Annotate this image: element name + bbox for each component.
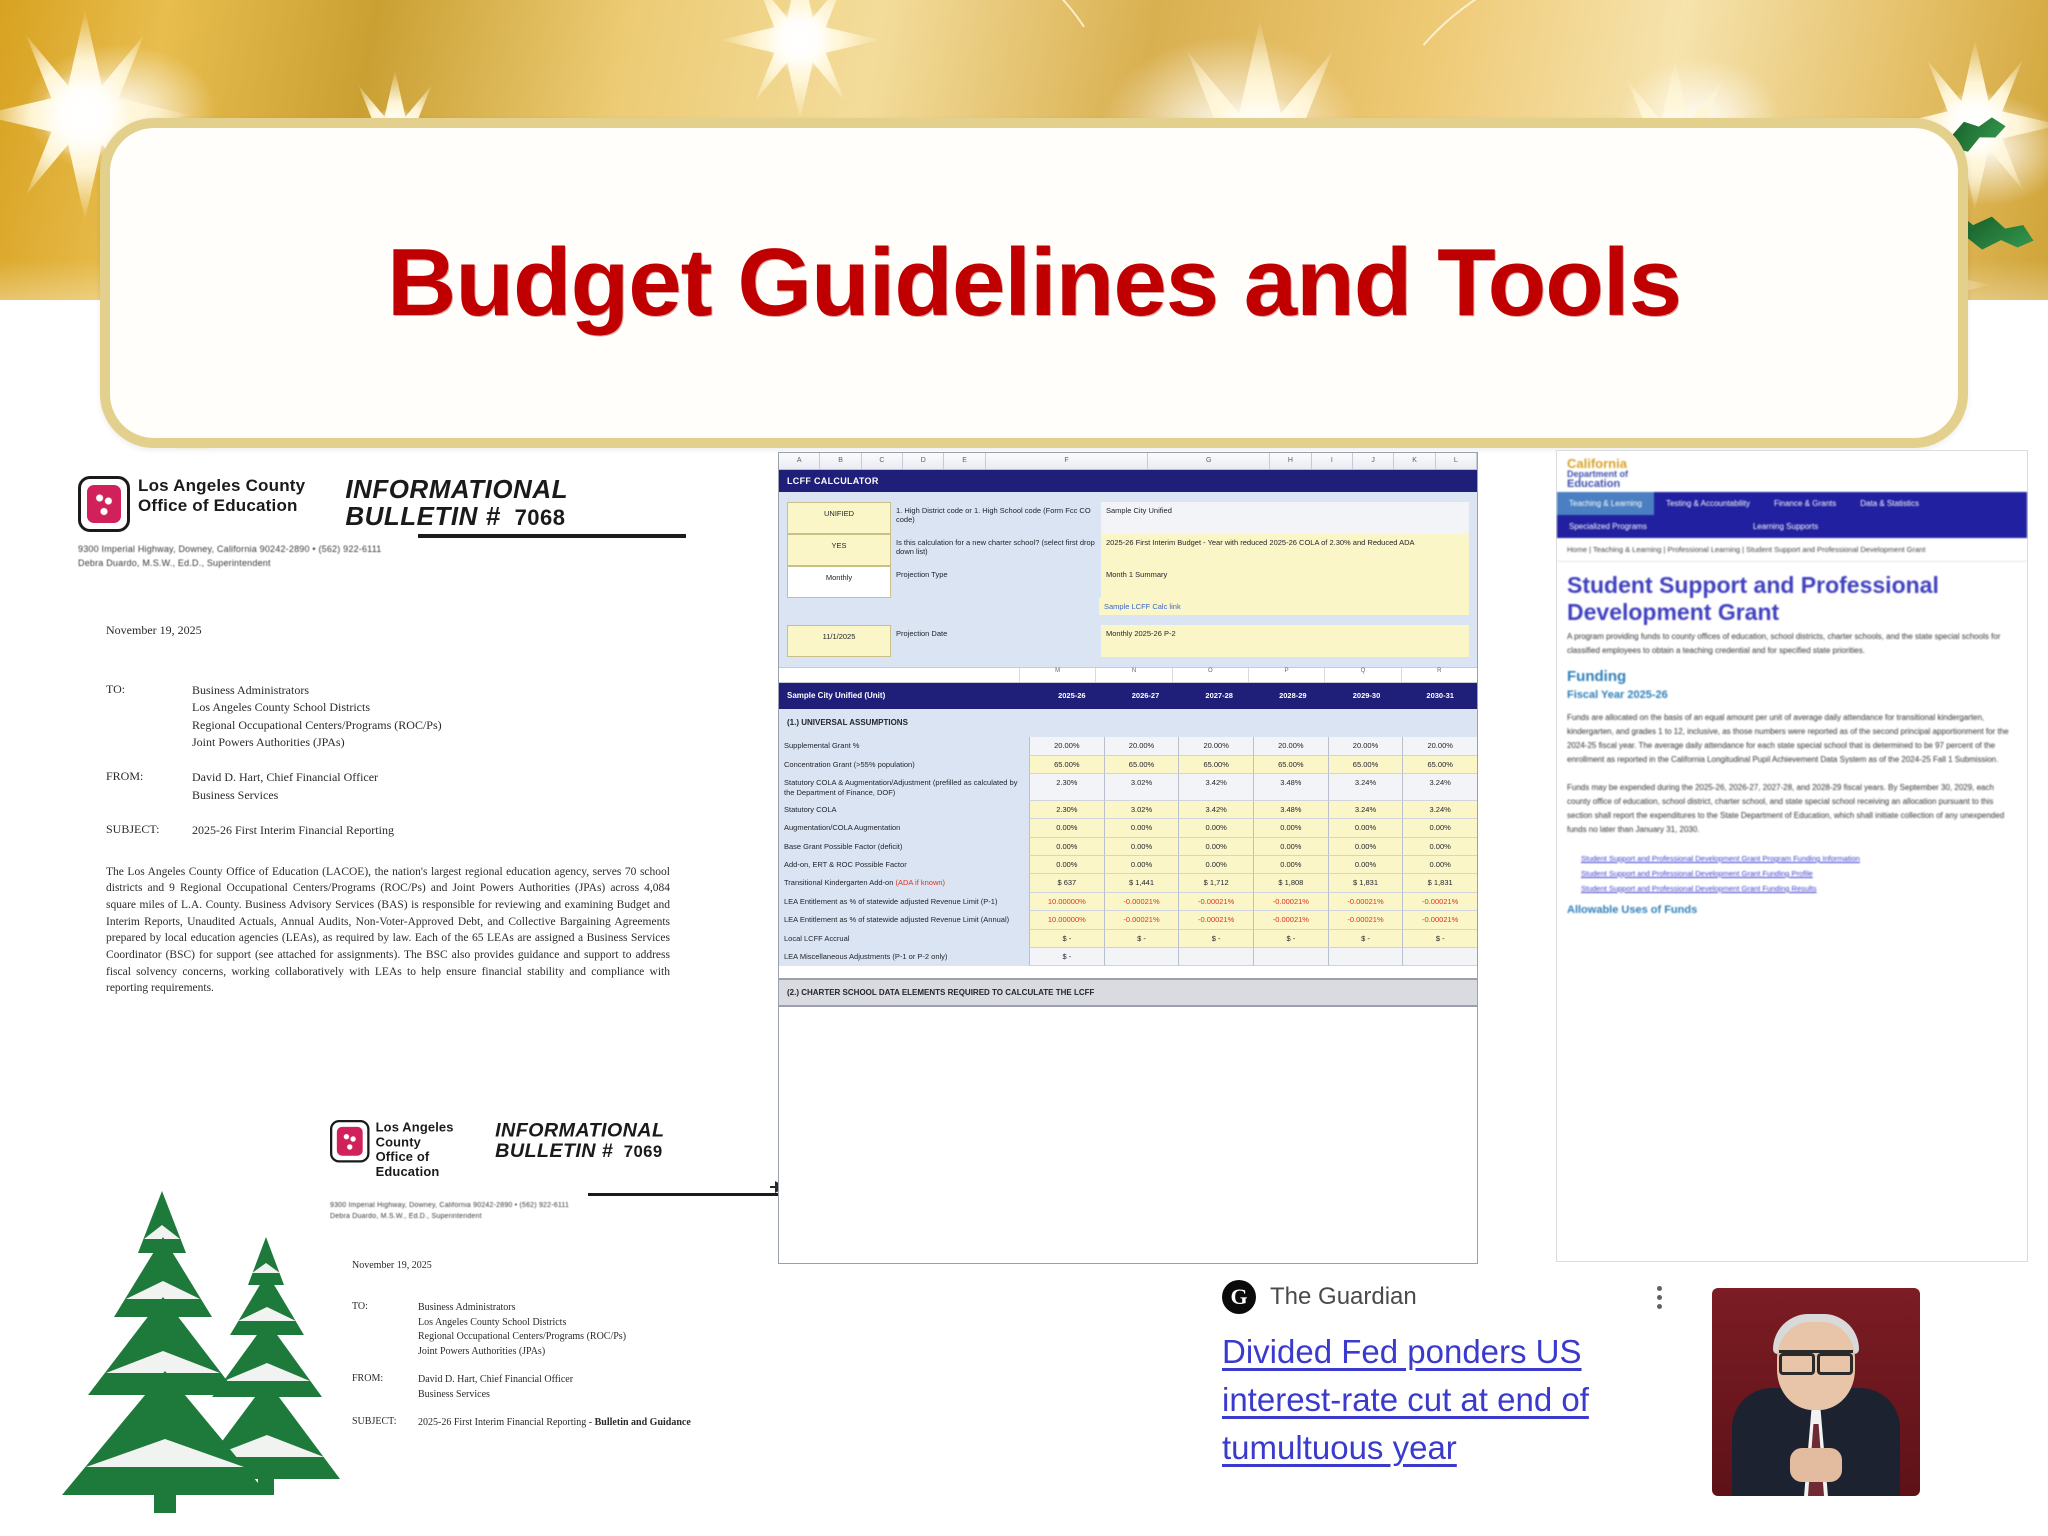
lcff-calculator-spreadsheet[interactable]: A B C D E F G H I J K L LCFF CALCULATOR … xyxy=(778,452,1478,1264)
column-header[interactable]: G xyxy=(1148,453,1270,469)
table-cell[interactable]: 0.00% xyxy=(1402,838,1477,856)
table-cell[interactable]: 20.00% xyxy=(1253,737,1328,755)
row-label-note: (ADA if known) xyxy=(893,878,945,887)
subject-label: SUBJECT: xyxy=(106,822,192,839)
table-cell[interactable]: 3.24% xyxy=(1328,801,1403,819)
table-cell[interactable]: 0.00% xyxy=(1328,838,1403,856)
to-label: TO: xyxy=(106,682,192,752)
spreadsheet-data-rows[interactable]: Supplemental Grant %20.00%20.00%20.00%20… xyxy=(779,737,1477,966)
spreadsheet-table-header: Sample City Unified (Unit) 2025-26 2026-… xyxy=(779,683,1477,709)
to-line: Los Angeles County School Districts xyxy=(418,1316,626,1331)
subject-label: SUBJECT: xyxy=(352,1416,418,1431)
pine-tree-large xyxy=(60,1185,270,1536)
bulletin-subject-block: SUBJECT: 2025-26 First Interim Financial… xyxy=(106,822,698,839)
column-header[interactable]: D xyxy=(903,453,944,469)
slide-title-card: Budget Guidelines and Tools xyxy=(100,118,1968,448)
table-row[interactable]: Transitional Kindergarten Add-on (ADA if… xyxy=(779,874,1477,892)
table-cell[interactable] xyxy=(1104,948,1179,966)
row-label: Transitional Kindergarten Add-on (ADA if… xyxy=(779,874,1029,892)
lacoe-address: 9300 Imperial Highway, Downey, Californi… xyxy=(78,542,698,556)
year-column-header: 2025-26 xyxy=(1035,683,1109,709)
from-line: David D. Hart, Chief Financial Officer xyxy=(192,769,378,786)
table-cell[interactable]: 0.00% xyxy=(1178,856,1253,874)
from-sender: David D. Hart, Chief Financial Officer B… xyxy=(192,769,378,804)
table-cell[interactable]: 0.00% xyxy=(1029,856,1104,874)
table-cell[interactable]: 20.00% xyxy=(1029,737,1104,755)
nav-item-specialized-programs[interactable]: Specialized Programs xyxy=(1557,515,1659,538)
table-cell[interactable]: 20.00% xyxy=(1328,737,1403,755)
funding-heading: Funding xyxy=(1557,658,2027,685)
year-column-header: 2029-30 xyxy=(1330,683,1404,709)
table-cell[interactable]: 3.42% xyxy=(1178,801,1253,819)
spreadsheet-column-headers[interactable]: A B C D E F G H I J K L xyxy=(779,453,1477,470)
table-cell[interactable]: -0.00021% xyxy=(1328,893,1403,911)
cde-logo[interactable]: California Department of Education xyxy=(1557,451,2027,492)
to-line: Regional Occupational Centers/Programs (… xyxy=(418,1330,626,1345)
column-header[interactable]: H xyxy=(1270,453,1311,469)
table-row[interactable]: LEA Miscellaneous Adjustments (P-1 or P-… xyxy=(779,948,1477,966)
spreadsheet-input-panel[interactable]: UNIFIED 1. High District code or 1. High… xyxy=(779,492,1477,667)
table-cell[interactable]: -0.00021% xyxy=(1104,911,1179,929)
table-cell[interactable]: -0.00021% xyxy=(1402,893,1477,911)
from-label: FROM: xyxy=(106,769,192,804)
table-row[interactable]: LEA Entitlement as % of statewide adjust… xyxy=(779,893,1477,911)
form-key[interactable]: 11/1/2025 xyxy=(787,625,891,657)
subject-value: 2025-26 First Interim Financial Reportin… xyxy=(192,822,394,839)
to-line: Business Administrators xyxy=(192,682,442,699)
subject-value: 2025-26 First Interim Financial Reportin… xyxy=(418,1416,691,1431)
table-cell[interactable]: $ - xyxy=(1253,930,1328,948)
kebab-menu-icon[interactable] xyxy=(1657,1286,1662,1309)
form-label: Is this calculation for a new charter sc… xyxy=(891,534,1101,566)
nav-item-finance-grants[interactable]: Finance & Grants xyxy=(1762,492,1848,515)
column-header[interactable]: L xyxy=(1436,453,1477,469)
from-line: Business Services xyxy=(418,1388,573,1403)
snowy-pine-trees-icon xyxy=(60,1185,350,1536)
table-cell[interactable]: -0.00021% xyxy=(1178,911,1253,929)
table-cell[interactable]: 2.30% xyxy=(1029,801,1104,819)
table-cell[interactable]: $ - xyxy=(1328,930,1403,948)
logo-line-2: Department of xyxy=(1567,470,2017,479)
lacoe-org-name: Los Angeles County Office of Education xyxy=(376,1120,470,1180)
row-label: Statutory COLA xyxy=(779,801,1029,819)
table-cell[interactable]: 3.48% xyxy=(1253,801,1328,819)
row-label: Concentration Grant (>55% population) xyxy=(779,756,1029,774)
table-cell[interactable]: 0.00% xyxy=(1253,838,1328,856)
form-label: 1. High District code or 1. High School … xyxy=(891,502,1101,534)
form-value[interactable]: Sample City Unified xyxy=(1101,502,1469,534)
lacoe-superintendent: Debra Duardo, M.S.W., Ed.D., Superintend… xyxy=(78,556,698,570)
table-cell[interactable]: 0.00% xyxy=(1104,819,1179,837)
column-header[interactable]: A xyxy=(779,453,820,469)
form-row[interactable]: YES Is this calculation for a new charte… xyxy=(787,534,1469,566)
table-cell[interactable]: $ 1,831 xyxy=(1328,874,1403,892)
table-cell[interactable]: -0.00021% xyxy=(1178,893,1253,911)
related-link[interactable]: Student Support and Professional Develop… xyxy=(1557,851,2027,866)
form-value[interactable]: Monthly 2025-26 P-2 xyxy=(1101,625,1469,657)
row-label: Local LCFF Accrual xyxy=(779,930,1029,948)
table-cell[interactable] xyxy=(1402,948,1477,966)
bulletin-to-block: TO: Business Administrators Los Angeles … xyxy=(106,682,698,752)
table-cell[interactable]: $ 1,808 xyxy=(1253,874,1328,892)
letterhead-divider xyxy=(418,534,686,538)
table-cell[interactable]: 65.00% xyxy=(1328,756,1403,774)
cde-webpage-screenshot[interactable]: California Department of Education Teach… xyxy=(1556,450,2028,1262)
year-column-header: 2028-29 xyxy=(1256,683,1330,709)
bulletin-from-block: FROM: David D. Hart, Chief Financial Off… xyxy=(106,769,698,804)
bulletin-to-block: TO: Business Administrators Los Angeles … xyxy=(352,1301,770,1359)
table-row[interactable]: Statutory COLA2.30%3.02%3.42%3.48%3.24%3… xyxy=(779,801,1477,819)
table-cell[interactable]: 10.00000% xyxy=(1029,893,1104,911)
row-label: Add-on, ERT & ROC Possible Factor xyxy=(779,856,1029,874)
table-cell[interactable]: 3.48% xyxy=(1253,774,1328,801)
related-link[interactable]: Student Support and Professional Develop… xyxy=(1557,881,2027,896)
nav-item-data-statistics[interactable]: Data & Statistics xyxy=(1848,492,1931,515)
cde-logo-text: California Department of Education xyxy=(1567,457,2017,490)
bulletin-label-line1: INFORMATIONAL xyxy=(495,1120,664,1141)
row-label: Augmentation/COLA Augmentation xyxy=(779,819,1029,837)
from-line: David D. Hart, Chief Financial Officer xyxy=(418,1373,573,1388)
column-header[interactable]: K xyxy=(1394,453,1435,469)
table-cell[interactable]: 20.00% xyxy=(1402,737,1477,755)
table-cell[interactable]: 65.00% xyxy=(1253,756,1328,774)
bulletin-7069-document[interactable]: Los Angeles County Office of Education I… xyxy=(330,1120,770,1536)
table-cell[interactable]: 3.02% xyxy=(1104,801,1179,819)
table-cell[interactable]: $ 637 xyxy=(1029,874,1104,892)
lacoe-logo-icon xyxy=(330,1120,370,1163)
table-cell[interactable]: 0.00% xyxy=(1029,838,1104,856)
table-cell[interactable]: 0.00% xyxy=(1253,856,1328,874)
bulletin-from-block: FROM: David D. Hart, Chief Financial Off… xyxy=(352,1373,770,1402)
table-row[interactable]: Statutory COLA & Augmentation/Adjustment… xyxy=(779,774,1477,801)
table-cell[interactable]: $ - xyxy=(1029,930,1104,948)
bulletin-label-line2: BULLETIN # xyxy=(495,1141,613,1162)
page-intro-text: A program providing funds to county offi… xyxy=(1557,630,2027,658)
row-label: LEA Entitlement as % of statewide adjust… xyxy=(779,911,1029,929)
guardian-news-card[interactable]: The Guardian Divided Fed ponders US inte… xyxy=(1222,1280,1662,1500)
table-cell[interactable]: 0.00% xyxy=(1178,819,1253,837)
table-cell[interactable]: $ 1,441 xyxy=(1104,874,1179,892)
org-line-1: Los Angeles County xyxy=(138,476,305,496)
bulletin-7068-document[interactable]: Los Angeles County Office of Education I… xyxy=(78,470,698,1070)
table-cell[interactable]: 65.00% xyxy=(1178,756,1253,774)
to-line: Los Angeles County School Districts xyxy=(192,699,442,716)
column-header[interactable]: E xyxy=(944,453,985,469)
to-recipients: Business Administrators Los Angeles Coun… xyxy=(418,1301,626,1359)
table-cell[interactable]: 0.00% xyxy=(1178,838,1253,856)
row-label: Base Grant Possible Factor (deficit) xyxy=(779,838,1029,856)
table-row[interactable]: Supplemental Grant %20.00%20.00%20.00%20… xyxy=(779,737,1477,755)
table-cell[interactable]: $ - xyxy=(1029,948,1104,966)
table-cell[interactable]: 3.24% xyxy=(1402,801,1477,819)
table-cell[interactable]: -0.00021% xyxy=(1253,893,1328,911)
table-cell[interactable]: 3.24% xyxy=(1328,774,1403,801)
letterhead-divider xyxy=(588,1193,788,1196)
row-label: LEA Miscellaneous Adjustments (P-1 or P-… xyxy=(779,948,1029,966)
table-cell[interactable]: 10.00000% xyxy=(1029,911,1104,929)
funding-paragraph-2: Funds may be expended during the 2025-26… xyxy=(1557,767,2027,837)
portrait-glasses-icon xyxy=(1779,1350,1853,1371)
from-line: Business Services xyxy=(192,787,378,804)
bulletin-date: November 19, 2025 xyxy=(352,1260,770,1271)
table-cell[interactable] xyxy=(1178,948,1253,966)
nav-item-teaching-learning[interactable]: Teaching & Learning xyxy=(1557,492,1654,515)
table-cell[interactable]: 65.00% xyxy=(1029,756,1104,774)
bulletin-label-line2: BULLETIN # xyxy=(345,503,500,530)
table-header-label: Sample City Unified (Unit) xyxy=(779,683,1035,709)
cde-main-nav[interactable]: Teaching & Learning Testing & Accountabi… xyxy=(1557,492,2027,538)
form-row[interactable]: Monthly Projection Type Month 1 Summary xyxy=(787,566,1469,598)
form-label: Projection Type xyxy=(891,566,1101,598)
column-header[interactable]: B xyxy=(820,453,861,469)
lacoe-address: 9300 Imperial Highway, Downey, Californi… xyxy=(330,1200,770,1211)
row-label: Supplemental Grant % xyxy=(779,737,1029,755)
year-column-header: 2030-31 xyxy=(1403,683,1477,709)
nav-subitem-learning-supports[interactable]: Learning Supports xyxy=(1741,515,1830,538)
fiscal-year-heading: Fiscal Year 2025-26 xyxy=(1557,685,2027,705)
news-source-row: The Guardian xyxy=(1222,1280,1662,1314)
form-label xyxy=(889,598,1099,615)
page-title: Budget Guidelines and Tools xyxy=(387,228,1681,338)
logo-line-3: Education xyxy=(1567,479,2017,490)
related-link[interactable]: Student Support and Professional Develop… xyxy=(1557,866,2027,881)
lacoe-superintendent: Debra Duardo, M.S.W., Ed.D., Superintend… xyxy=(330,1211,770,1222)
table-cell[interactable]: 65.00% xyxy=(1104,756,1179,774)
to-recipients: Business Administrators Los Angeles Coun… xyxy=(192,682,442,752)
to-line: Joint Powers Authorities (JPAs) xyxy=(418,1345,626,1360)
form-key[interactable]: UNIFIED xyxy=(787,502,891,534)
lacoe-letterhead: Los Angeles County Office of Education I… xyxy=(78,470,698,532)
breadcrumb[interactable]: Home | Teaching & Learning | Professiona… xyxy=(1557,538,2027,562)
table-cell[interactable]: 20.00% xyxy=(1104,737,1179,755)
form-row[interactable]: 11/1/2025 Projection Date Monthly 2025-2… xyxy=(787,615,1469,657)
nav-item-testing-accountability[interactable]: Testing & Accountability xyxy=(1654,492,1762,515)
table-cell[interactable]: -0.00021% xyxy=(1104,893,1179,911)
section-2-title: (2.) CHARTER SCHOOL DATA ELEMENTS REQUIR… xyxy=(779,978,1477,1007)
page-heading: Student Support and Professional Develop… xyxy=(1557,562,2027,630)
funding-paragraph-1: Funds are allocated on the basis of an e… xyxy=(1557,705,2027,767)
table-cell[interactable]: 65.00% xyxy=(1402,756,1477,774)
table-cell[interactable]: 0.00% xyxy=(1253,819,1328,837)
table-row[interactable]: LEA Entitlement as % of statewide adjust… xyxy=(779,911,1477,929)
to-line: Joint Powers Authorities (JPAs) xyxy=(192,734,442,751)
table-cell[interactable]: $ 1,712 xyxy=(1178,874,1253,892)
section-1-title: (1.) UNIVERSAL ASSUMPTIONS xyxy=(779,709,1477,737)
table-cell[interactable]: 3.02% xyxy=(1104,774,1179,801)
table-cell[interactable]: 2.30% xyxy=(1029,774,1104,801)
to-line: Business Administrators xyxy=(418,1301,626,1316)
portrait-hands xyxy=(1790,1448,1842,1482)
table-row[interactable]: Concentration Grant (>55% population)65.… xyxy=(779,756,1477,774)
form-key xyxy=(787,598,889,615)
news-headline-link[interactable]: Divided Fed ponders US interest-rate cut… xyxy=(1222,1328,1662,1472)
lacoe-logo-icon xyxy=(78,476,130,532)
bulletin-label: INFORMATIONAL BULLETIN # 7068 xyxy=(345,476,568,531)
from-label: FROM: xyxy=(352,1373,418,1402)
table-cell[interactable]: 0.00% xyxy=(1104,856,1179,874)
table-cell[interactable]: -0.00021% xyxy=(1253,911,1328,929)
table-cell[interactable]: $ - xyxy=(1402,930,1477,948)
table-cell[interactable]: 3.24% xyxy=(1402,774,1477,801)
table-row[interactable]: Base Grant Possible Factor (deficit)0.00… xyxy=(779,838,1477,856)
table-cell[interactable]: $ - xyxy=(1104,930,1179,948)
bulletin-number: 7069 xyxy=(624,1143,663,1161)
table-cell[interactable]: 0.00% xyxy=(1328,856,1403,874)
table-cell[interactable] xyxy=(1328,948,1403,966)
table-row[interactable]: Augmentation/COLA Augmentation0.00%0.00%… xyxy=(779,819,1477,837)
spreadsheet-title-bar: LCFF CALCULATOR xyxy=(779,470,1477,492)
allowable-uses-heading: Allowable Uses of Funds xyxy=(1557,896,2027,924)
table-row[interactable]: Local LCFF Accrual$ -$ -$ -$ -$ -$ - xyxy=(779,930,1477,948)
table-cell[interactable]: 3.42% xyxy=(1178,774,1253,801)
bulletin-number: 7068 xyxy=(515,506,566,529)
form-row[interactable]: UNIFIED 1. High District code or 1. High… xyxy=(787,502,1469,534)
row-label: Statutory COLA & Augmentation/Adjustment… xyxy=(779,774,1029,801)
table-cell[interactable]: 0.00% xyxy=(1402,819,1477,837)
bulletin-label: INFORMATIONAL BULLETIN # 7069 xyxy=(495,1120,664,1161)
news-thumbnail-image[interactable] xyxy=(1712,1288,1920,1496)
related-links-list[interactable]: Student Support and Professional Develop… xyxy=(1557,851,2027,896)
year-column-header: 2027-28 xyxy=(1182,683,1256,709)
to-label: TO: xyxy=(352,1301,418,1359)
bulletin-body-text: The Los Angeles County Office of Educati… xyxy=(106,864,670,997)
table-cell[interactable]: 0.00% xyxy=(1402,856,1477,874)
org-line-2: Office of Education xyxy=(376,1150,470,1180)
table-cell[interactable]: $ - xyxy=(1178,930,1253,948)
table-cell[interactable]: 0.00% xyxy=(1029,819,1104,837)
form-key[interactable]: Monthly xyxy=(787,566,891,598)
table-cell[interactable]: -0.00021% xyxy=(1402,911,1477,929)
bulletin-subject-block: SUBJECT: 2025-26 First Interim Financial… xyxy=(352,1416,770,1431)
table-cell[interactable]: 20.00% xyxy=(1178,737,1253,755)
year-column-header: 2026-27 xyxy=(1109,683,1183,709)
subject-text: 2025-26 First Interim Financial Reportin… xyxy=(418,1417,595,1428)
lacoe-letterhead: Los Angeles County Office of Education I… xyxy=(330,1120,664,1180)
from-sender: David D. Hart, Chief Financial Officer B… xyxy=(418,1373,573,1402)
table-cell[interactable]: -0.00021% xyxy=(1328,911,1403,929)
guardian-g-icon xyxy=(1222,1280,1256,1314)
row-label: LEA Entitlement as % of statewide adjust… xyxy=(779,893,1029,911)
org-line-1: Los Angeles County xyxy=(376,1120,470,1150)
bulletin-label-line1: INFORMATIONAL xyxy=(345,476,568,503)
column-header[interactable]: J xyxy=(1353,453,1394,469)
spreadsheet-year-column-letters: M N O P Q R xyxy=(779,667,1477,683)
subject-emphasis: Bulletin and Guidance xyxy=(595,1417,691,1428)
bulletin-date: November 19, 2025 xyxy=(106,623,698,638)
news-source-name: The Guardian xyxy=(1270,1283,1417,1311)
form-row[interactable]: Sample LCFF Calc link xyxy=(787,598,1469,615)
table-row[interactable]: Add-on, ERT & ROC Possible Factor0.00%0.… xyxy=(779,856,1477,874)
column-header[interactable]: C xyxy=(862,453,903,469)
org-line-2: Office of Education xyxy=(138,496,305,516)
lacoe-org-name: Los Angeles County Office of Education xyxy=(138,476,305,515)
form-value[interactable]: 2025-26 First Interim Budget - Year with… xyxy=(1101,534,1469,566)
column-header[interactable]: I xyxy=(1312,453,1353,469)
form-value-link[interactable]: Sample LCFF Calc link xyxy=(1099,598,1469,615)
column-header[interactable]: F xyxy=(986,453,1148,469)
to-line: Regional Occupational Centers/Programs (… xyxy=(192,717,442,734)
table-cell[interactable]: $ 1,831 xyxy=(1402,874,1477,892)
table-cell[interactable]: 0.00% xyxy=(1104,838,1179,856)
table-cell[interactable] xyxy=(1253,948,1328,966)
form-key[interactable]: YES xyxy=(787,534,891,566)
table-cell[interactable]: 0.00% xyxy=(1328,819,1403,837)
form-value[interactable]: Month 1 Summary xyxy=(1101,566,1469,598)
form-label: Projection Date xyxy=(891,625,1101,657)
